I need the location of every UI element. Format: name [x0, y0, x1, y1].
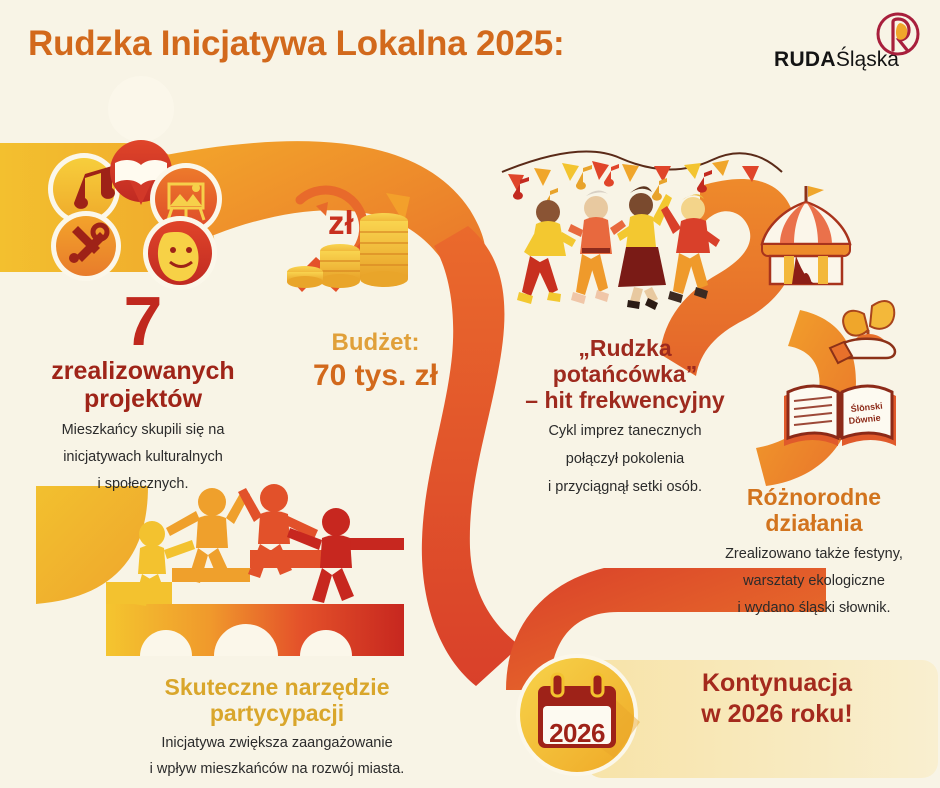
calendar-year-label: 2026: [516, 718, 638, 749]
projects-heading-line2: projektów: [12, 386, 274, 414]
participation-body-line1: Inicjatywa zwiększa zaangażowanie: [68, 733, 486, 753]
participation-body-line2: i wpływ mieszkańców na rozwój miasta.: [68, 759, 486, 779]
block-projects: 7 zrealizowanych projektów Mieszkańcy sk…: [12, 286, 274, 494]
dance-heading-line2: potańcówka”: [492, 362, 758, 388]
participation-heading-line1: Skuteczne narzędzie: [68, 674, 486, 700]
diverse-body-line2: warsztaty ekologiczne: [690, 571, 938, 591]
calendar-badge: 2026: [516, 654, 638, 776]
block-budget: Budżet: 70 tys. zł: [268, 330, 483, 392]
projects-body-line1: Mieszkańcy skupili się na: [12, 420, 274, 440]
diverse-body-line3: i wydano śląski słownik.: [690, 598, 938, 618]
logo-name-bold: RUDA: [774, 48, 836, 71]
diverse-body-line1: Zrealizowano także festyny,: [690, 544, 938, 564]
dance-body-line2: połączył pokolenia: [492, 449, 758, 469]
logo-emblem-icon: [876, 12, 920, 56]
block-diverse-actions: Różnorodne działania Zrealizowano także …: [690, 484, 938, 618]
infographic-canvas: zł: [0, 0, 940, 788]
projects-body-line2: inicjatywach kulturalnych: [12, 447, 274, 467]
diverse-heading-line1: Różnorodne: [690, 484, 938, 510]
dance-heading-line1: „Rudzka: [492, 336, 758, 362]
projects-body-line3: i społecznych.: [12, 474, 274, 494]
dance-body-line1: Cykl imprez tanecznych: [492, 421, 758, 441]
projects-heading-line1: zrealizowanych: [12, 358, 274, 386]
projects-count: 7: [12, 286, 274, 356]
budget-amount: 70 tys. zł: [268, 359, 483, 392]
block-participation: Skuteczne narzędzie partycypacji Inicjat…: [68, 674, 486, 779]
page-title: Rudzka Inicjatywa Lokalna 2025:: [28, 24, 565, 64]
participation-heading-line2: partycypacji: [68, 700, 486, 726]
block-continuation: Kontynuacja w 2026 roku!: [652, 668, 902, 729]
continuation-heading-line1: Kontynuacja: [652, 668, 902, 699]
continuation-heading-line2: w 2026 roku!: [652, 699, 902, 730]
diverse-heading-line2: działania: [690, 510, 938, 536]
budget-label: Budżet:: [268, 330, 483, 356]
block-dance: „Rudzka potańcówka” – hit frekwencyjny C…: [492, 336, 758, 497]
ruda-slaska-logo: RUDAŚląska: [762, 12, 922, 82]
dance-heading-line3: – hit frekwencyjny: [492, 388, 758, 414]
